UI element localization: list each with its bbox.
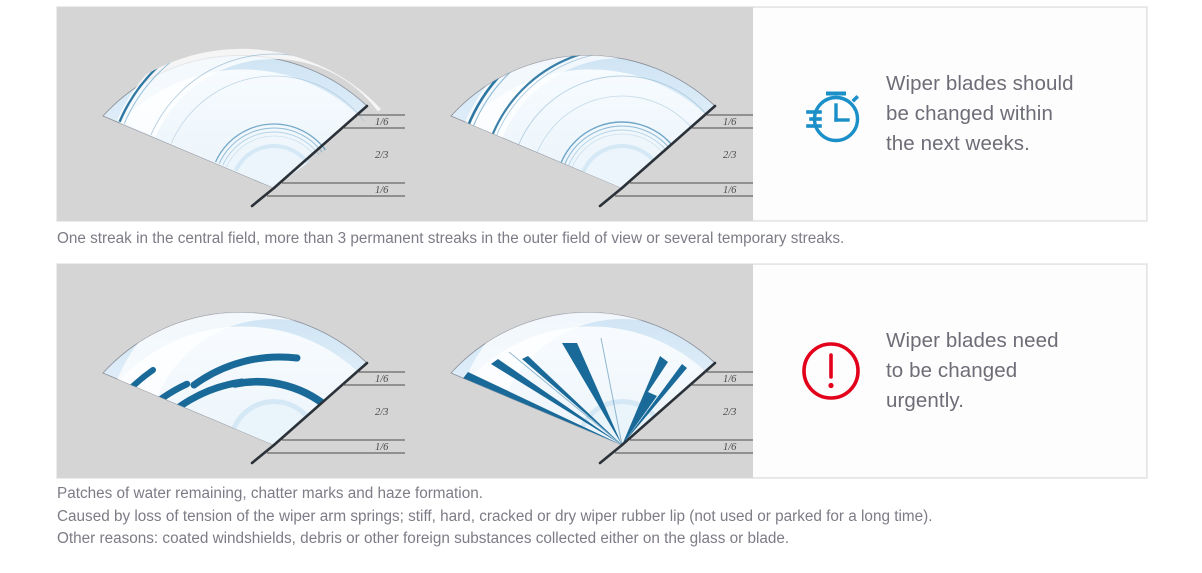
message-panel-severe: Wiper blades need to be changed urgently… — [753, 264, 1147, 478]
wiper-condition-chart: 1/6 2/3 1/6 — [0, 0, 1202, 573]
diagram-panel-row2: 1/6 2/3 1/6 — [57, 264, 753, 478]
scale-label-top: 1/6 — [723, 374, 737, 385]
fan-shape: 1/6 2/3 1/6 — [451, 297, 753, 478]
scale-label-middle: 2/3 — [723, 407, 736, 418]
message-panel-moderate: Wiper blades should be changed within th… — [753, 7, 1147, 221]
exclamation-circle-icon — [798, 338, 864, 404]
caption-severe: Patches of water remaining, chatter mark… — [57, 483, 932, 551]
row-panels: 1/6 2/3 1/6 — [57, 264, 1147, 478]
row-panels: 1/6 2/3 1/6 — [57, 7, 1147, 221]
fan-shape: 1/6 2/3 1/6 — [103, 297, 405, 478]
caption-moderate: One streak in the central field, more th… — [57, 228, 844, 251]
scale-label-bottom: 1/6 — [723, 185, 737, 196]
scale-label-bottom: 1/6 — [723, 442, 737, 453]
scale-label-top: 1/6 — [723, 117, 737, 128]
condition-row-moderate: 1/6 2/3 1/6 — [57, 7, 1147, 221]
scale-label-bottom: 1/6 — [375, 442, 389, 453]
scale-label-bottom: 1/6 — [375, 185, 389, 196]
scale-label-middle: 2/3 — [375, 150, 388, 161]
scale-label-middle: 2/3 — [723, 150, 736, 161]
wiper-field-diagram-streaks-light: 1/6 2/3 1/6 — [57, 7, 405, 221]
message-text: Wiper blades need to be changed urgently… — [886, 326, 1059, 415]
stopwatch-icon — [798, 81, 864, 147]
scale-label-middle: 2/3 — [375, 407, 388, 418]
message-text: Wiper blades should be changed within th… — [886, 69, 1074, 158]
wiper-field-diagram-patches: 1/6 2/3 1/6 — [57, 264, 405, 478]
wiper-field-diagram-radial-streaks: 1/6 2/3 1/6 — [405, 264, 753, 478]
fan-shape: 1/6 2/3 1/6 — [103, 20, 405, 221]
scale-label-top: 1/6 — [375, 374, 389, 385]
condition-row-severe: 1/6 2/3 1/6 — [57, 264, 1147, 478]
fan-shape: 1/6 2/3 1/6 — [451, 22, 753, 221]
diagram-panel-row1: 1/6 2/3 1/6 — [57, 7, 753, 221]
wiper-field-diagram-streaks-multiple: 1/6 2/3 1/6 — [405, 7, 753, 221]
scale-label-top: 1/6 — [375, 117, 389, 128]
